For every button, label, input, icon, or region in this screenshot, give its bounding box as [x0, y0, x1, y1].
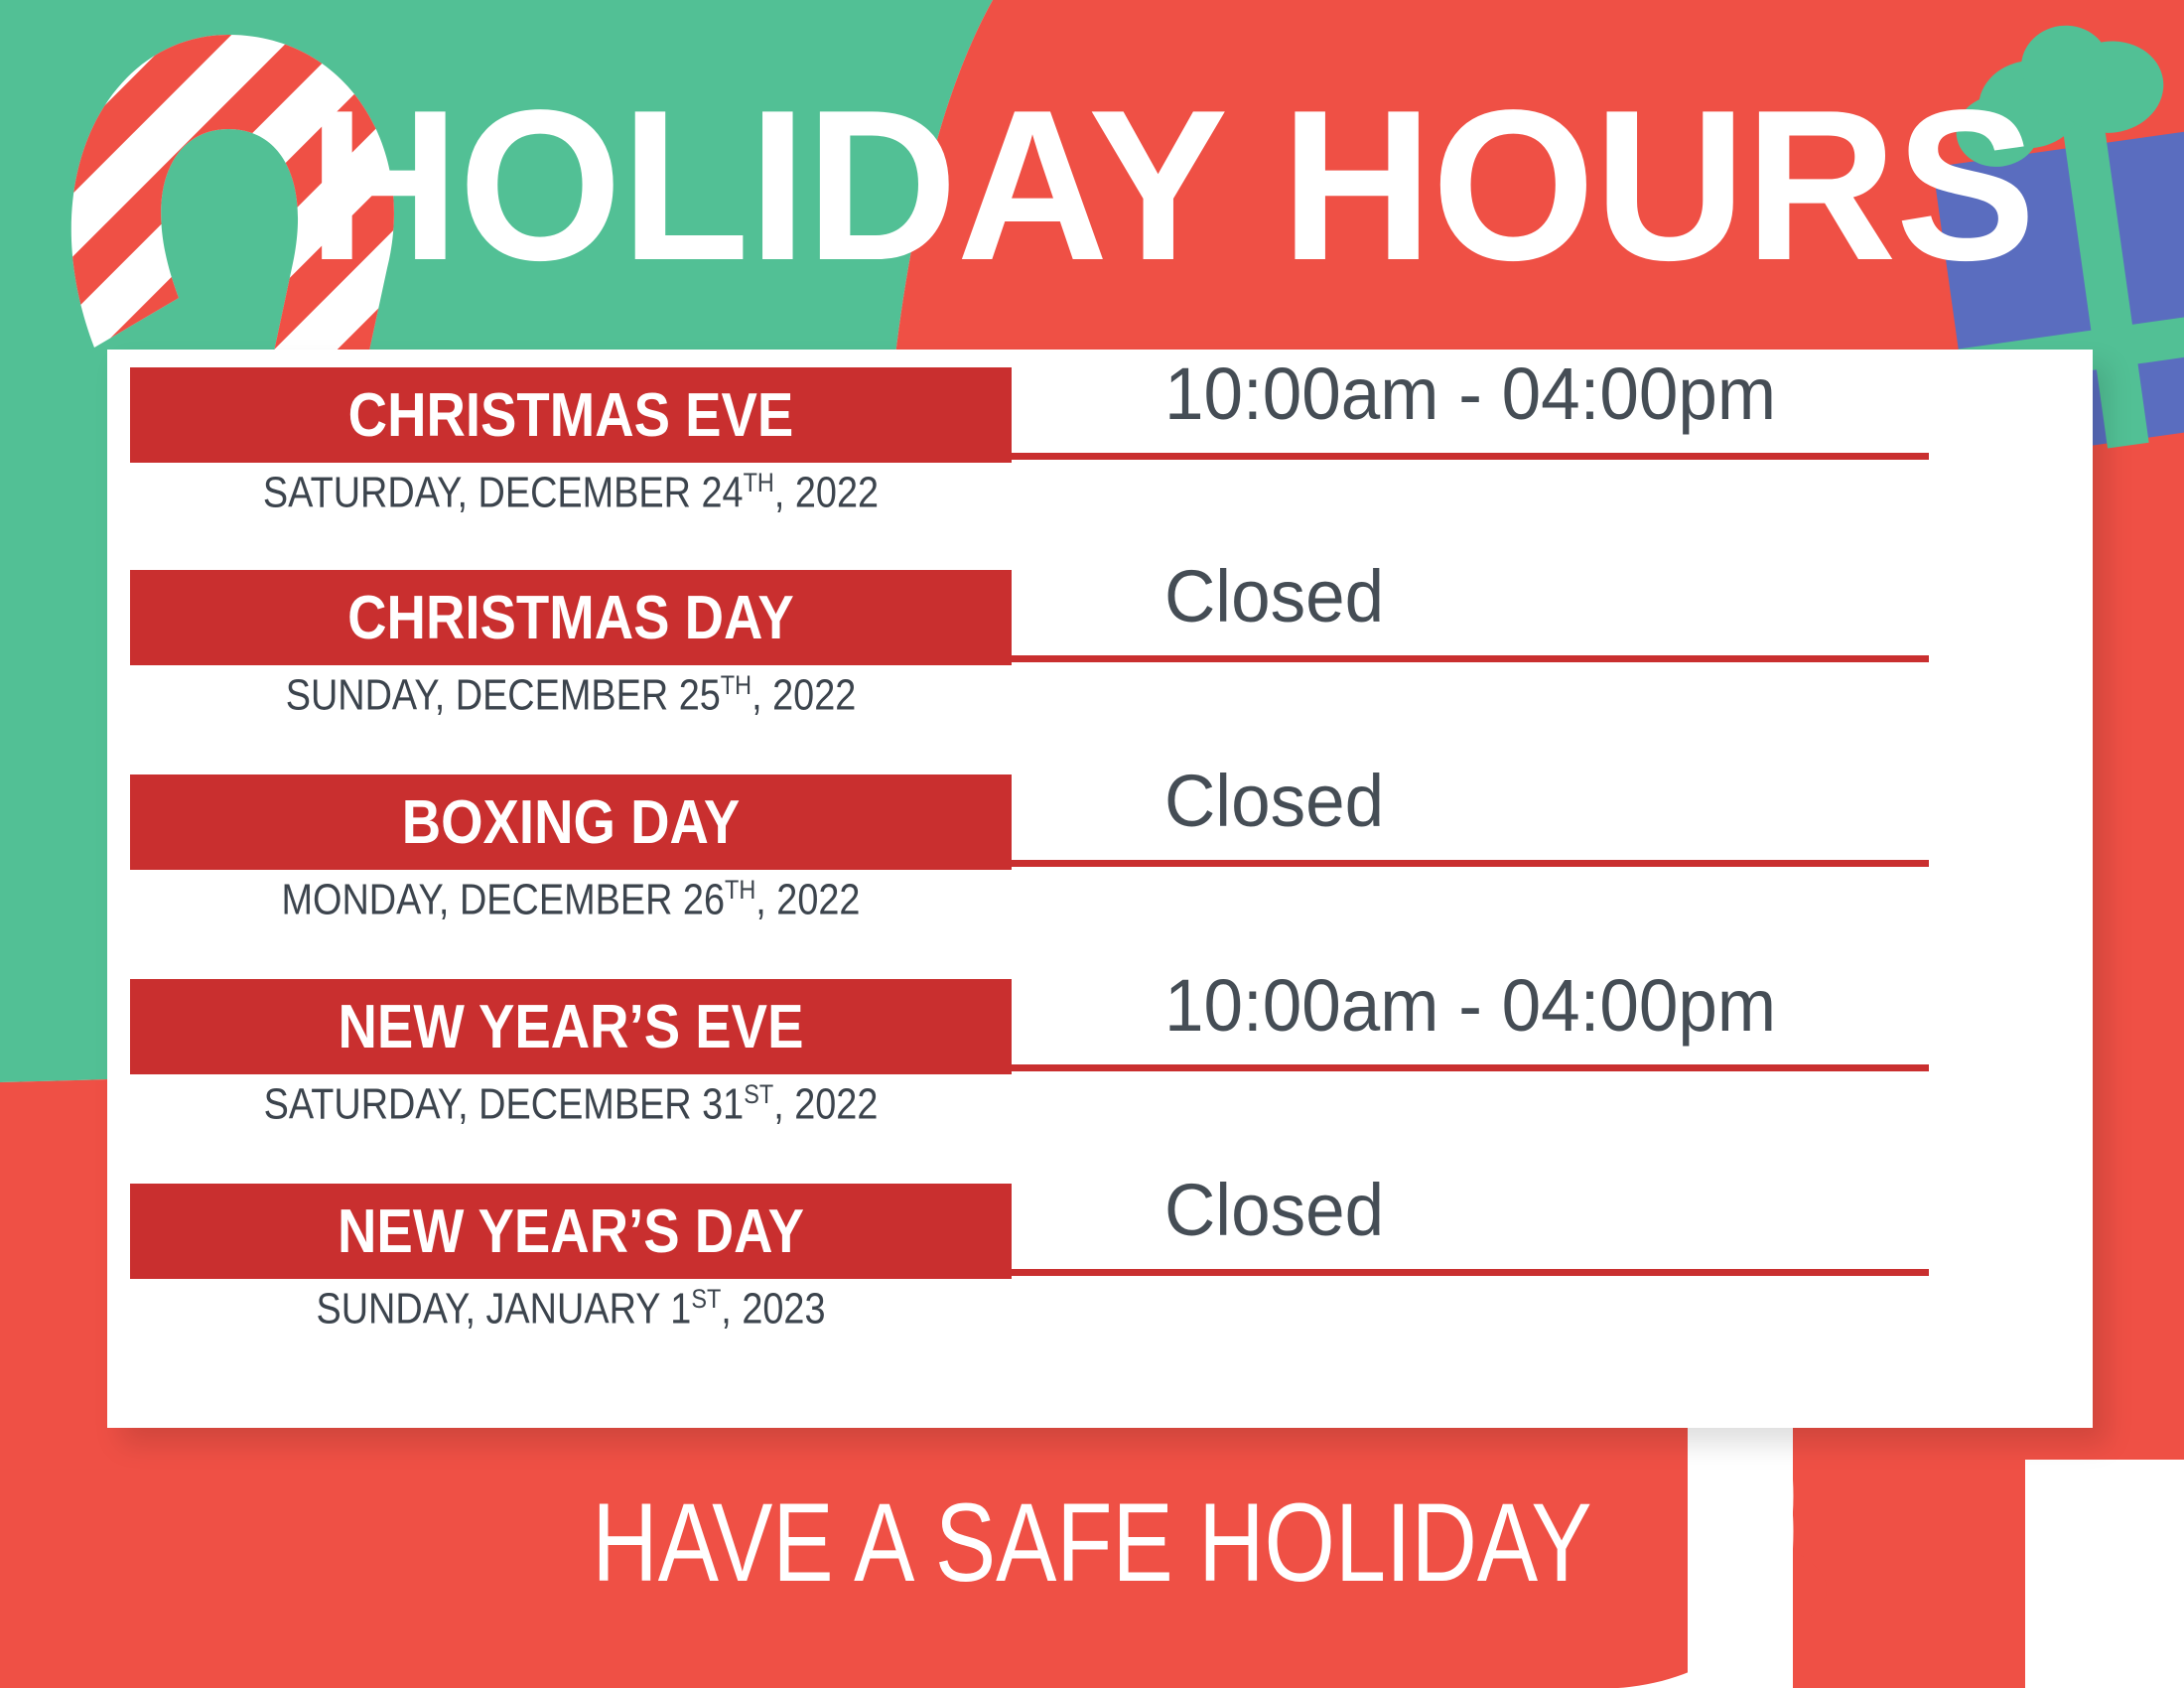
- row-divider: [1006, 1269, 1929, 1276]
- holiday-date-text: SUNDAY, DECEMBER 25: [286, 671, 721, 720]
- holiday-date-year: , 2022: [755, 876, 860, 924]
- holiday-hours: Closed: [1164, 1168, 1384, 1252]
- holiday-name: BOXING DAY: [183, 774, 958, 870]
- holiday-date-year: , 2022: [751, 671, 856, 720]
- holiday-name-bar: NEW YEAR’S DAY: [130, 1184, 1012, 1279]
- holiday-date: SATURDAY, DECEMBER 31ST, 2022: [192, 1078, 950, 1130]
- schedule-card: CHRISTMAS EVE SATURDAY, DECEMBER 24TH, 2…: [107, 350, 2093, 1428]
- holiday-date-year: , 2023: [721, 1285, 825, 1334]
- row-divider: [1006, 655, 1929, 662]
- holiday-date-suffix: TH: [744, 467, 774, 497]
- row-divider: [1006, 1064, 1929, 1071]
- holiday-date: MONDAY, DECEMBER 26TH, 2022: [192, 874, 950, 925]
- holiday-hours: 10:00am - 04:00pm: [1164, 963, 1776, 1048]
- poster-canvas: HOLIDAY HOURS CHRISTMAS EVE SATURDAY, DE…: [0, 0, 2184, 1688]
- holiday-date-suffix: ST: [744, 1078, 773, 1109]
- holiday-date-text: SATURDAY, DECEMBER 24: [263, 469, 744, 517]
- footer-message: HAVE A SAFE HOLIDAY: [197, 1487, 1987, 1599]
- holiday-date-text: SUNDAY, JANUARY 1: [316, 1285, 691, 1334]
- holiday-name-bar: BOXING DAY: [130, 774, 1012, 870]
- page-title: HOLIDAY HOURS: [308, 77, 1942, 292]
- holiday-date-suffix: TH: [725, 874, 755, 905]
- holiday-name-bar: CHRISTMAS DAY: [130, 570, 1012, 665]
- holiday-name: NEW YEAR’S EVE: [183, 979, 958, 1074]
- row-divider: [1006, 860, 1929, 867]
- holiday-hours: 10:00am - 04:00pm: [1164, 352, 1776, 436]
- holiday-date: SATURDAY, DECEMBER 24TH, 2022: [192, 467, 950, 518]
- row-divider: [1006, 453, 1929, 460]
- holiday-date-text: SATURDAY, DECEMBER 31: [264, 1080, 745, 1129]
- holiday-name: NEW YEAR’S DAY: [183, 1184, 958, 1279]
- holiday-date-year: , 2022: [774, 469, 879, 517]
- holiday-date-text: MONDAY, DECEMBER 26: [282, 876, 725, 924]
- holiday-name-bar: CHRISTMAS EVE: [130, 367, 1012, 463]
- holiday-name-bar: NEW YEAR’S EVE: [130, 979, 1012, 1074]
- holiday-date-suffix: ST: [691, 1283, 721, 1314]
- holiday-name: CHRISTMAS EVE: [183, 367, 958, 463]
- holiday-hours: Closed: [1164, 554, 1384, 638]
- holiday-date: SUNDAY, DECEMBER 25TH, 2022: [192, 669, 950, 721]
- holiday-hours: Closed: [1164, 759, 1384, 843]
- holiday-name: CHRISTMAS DAY: [183, 570, 958, 665]
- holiday-date-year: , 2022: [773, 1080, 878, 1129]
- holiday-date: SUNDAY, JANUARY 1ST, 2023: [192, 1283, 950, 1335]
- holiday-date-suffix: TH: [721, 669, 751, 700]
